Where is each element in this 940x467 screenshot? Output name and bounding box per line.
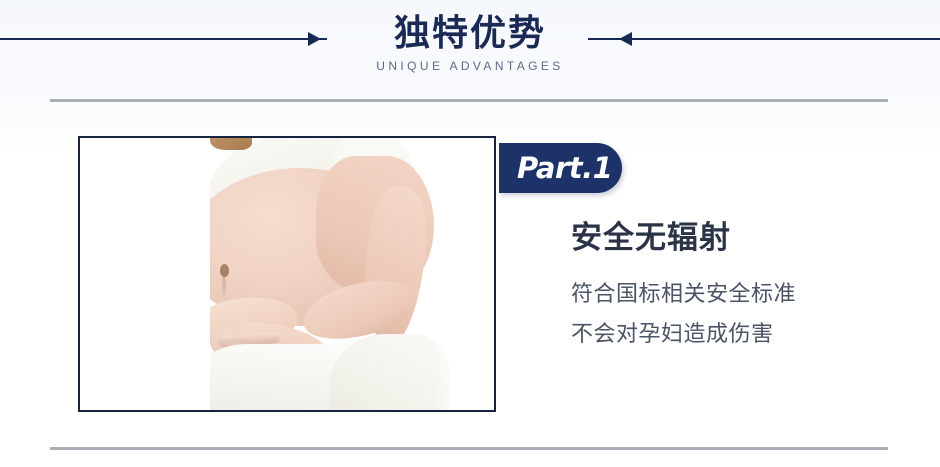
promo-page: 独特优势 UNIQUE ADVANTAGES <box>0 0 940 467</box>
part-badge: Part.1 <box>499 143 622 193</box>
section-header: 独特优势 UNIQUE ADVANTAGES <box>0 0 940 92</box>
figure-navel-shadow <box>222 275 226 301</box>
feature-text-column: Part.1 安全无辐射 符合国标相关安全标准 不会对孕妇造成伤害 <box>499 110 940 440</box>
page-title: 独特优势 <box>0 0 940 55</box>
header-title-block: 独特优势 UNIQUE ADVANTAGES <box>0 0 940 74</box>
feature-body-line: 符合国标相关安全标准 <box>571 279 796 309</box>
page-subtitle: UNIQUE ADVANTAGES <box>0 55 940 74</box>
section-content: Part.1 安全无辐射 符合国标相关安全标准 不会对孕妇造成伤害 <box>0 110 940 440</box>
divider-bottom <box>50 447 888 450</box>
figure-background-left <box>80 138 210 410</box>
divider-top <box>50 99 888 102</box>
figure-background-right <box>432 138 494 410</box>
photo-illustration <box>80 138 494 410</box>
feature-photo <box>78 136 496 412</box>
feature-headline: 安全无辐射 <box>571 218 731 258</box>
feature-body-line: 不会对孕妇造成伤害 <box>571 319 774 349</box>
part-badge-label: Part.1 <box>517 150 612 186</box>
figure-hair <box>210 138 252 150</box>
